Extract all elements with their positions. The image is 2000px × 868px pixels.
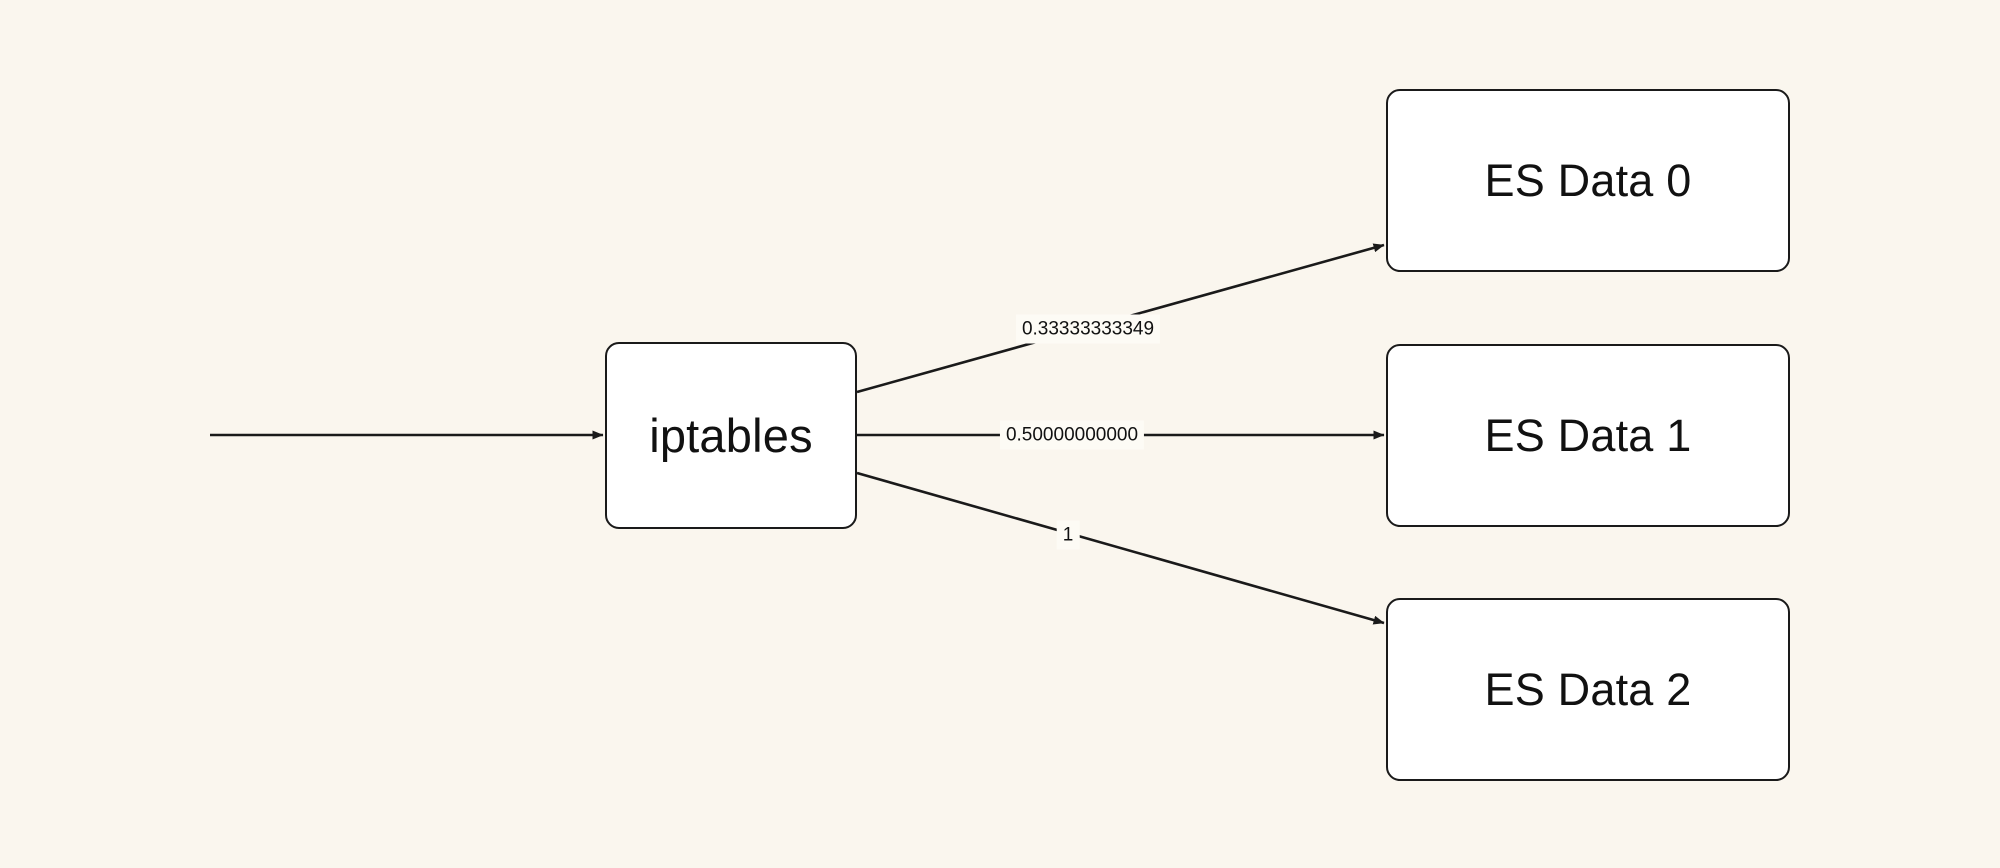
node-es-data-1[interactable]: ES Data 1 (1386, 344, 1790, 527)
edge-label-es-data-2: 1 (1057, 521, 1080, 550)
node-es-data-0[interactable]: ES Data 0 (1386, 89, 1790, 272)
edge-iptables-to-es-data-2 (857, 473, 1384, 623)
diagram-canvas: iptables ES Data 0 ES Data 1 ES Data 2 0… (0, 0, 2000, 868)
node-es-data-2-label: ES Data 2 (1485, 664, 1692, 716)
node-es-data-2[interactable]: ES Data 2 (1386, 598, 1790, 781)
node-es-data-0-label: ES Data 0 (1485, 155, 1692, 207)
edge-label-es-data-1: 0.50000000000 (1000, 421, 1144, 450)
node-iptables-label: iptables (649, 408, 813, 463)
node-iptables[interactable]: iptables (605, 342, 857, 529)
edge-label-es-data-0: 0.33333333349 (1016, 315, 1160, 344)
node-es-data-1-label: ES Data 1 (1485, 410, 1692, 462)
